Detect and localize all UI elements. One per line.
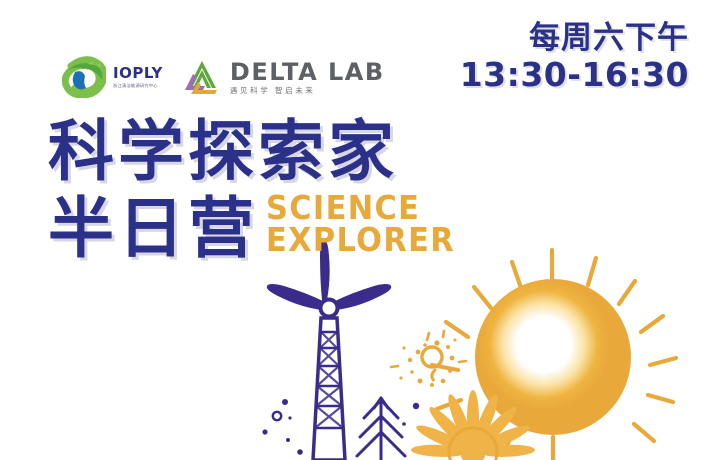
logo-bar: IOPLY 浙江清洁能源研究中心 DELTA LAB 遇见科学 智启未来 [62,56,385,98]
logo-ioply: IOPLY 浙江清洁能源研究中心 [62,56,163,98]
headline-row-2: 半日营 SCIENCE EXPLORER [48,192,471,261]
page-title-line1: 科学探索家 [48,118,471,184]
sun-icon [475,279,631,435]
decorative-dots [262,399,419,455]
tree-icon [357,398,405,460]
logo-delta-subtitle: 遇见科学 智启未来 [230,87,385,95]
sunflower-icon [411,390,535,460]
logo-delta-lab: DELTA LAB 遇见科学 智启未来 [181,56,385,98]
delta-triangle-icon [181,56,223,98]
schedule-time: 13:30-16:30 [460,58,689,93]
sun-sketch-icon [391,331,466,387]
schedule-day: 每周六下午 [460,22,689,55]
headline-block: 科学探索家 半日营 SCIENCE EXPLORER [48,118,471,261]
headline-english-line2: EXPLORER [266,224,455,256]
logo-ioply-subtitle: 浙江清洁能源研究中心 [113,84,163,88]
leaf-globe-icon [62,56,106,98]
page-title-line2: 半日营 [48,195,258,261]
poster-canvas: IOPLY 浙江清洁能源研究中心 DELTA LAB 遇见科学 智启未来 每周六… [0,0,705,460]
sun-rays-icon [432,250,676,459]
logo-ioply-wordmark: IOPLY [113,66,163,81]
headline-english: SCIENCE EXPLORER [266,192,471,261]
schedule-block: 每周六下午 13:30-16:30 [460,22,689,93]
wind-turbine-icon [267,240,391,460]
logo-delta-wordmark: DELTA LAB [230,60,385,84]
